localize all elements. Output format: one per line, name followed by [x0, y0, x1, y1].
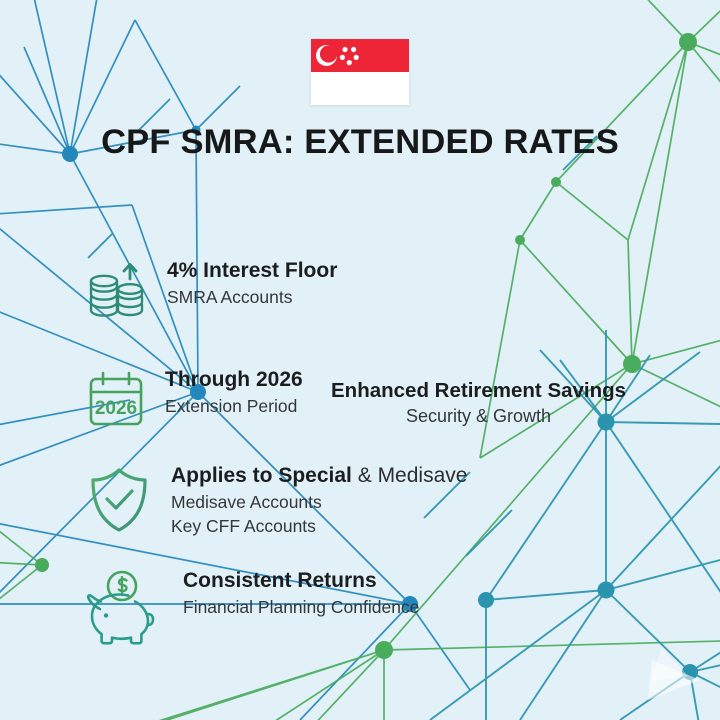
- feature-row-interest-floor: 4% Interest Floor SMRA Accounts: [84, 258, 337, 329]
- feature-headline-light: & Medisave: [352, 464, 468, 487]
- feature-row-consistent-returns: Consistent Returns Financial Planning Co…: [80, 568, 419, 651]
- singapore-flag: [311, 39, 409, 105]
- feature-subtext: SMRA Accounts: [167, 285, 337, 309]
- coin-stacks-up-arrow-icon: [84, 258, 150, 329]
- feature-headline: Through 2026: [165, 367, 303, 394]
- infographic-content: CPF SMRA: EXTENDED RATES: [0, 0, 720, 720]
- feature-subtext: Medisave Accounts: [171, 490, 467, 514]
- overlay-subtext: Security & Growth: [331, 404, 626, 429]
- piggy-bank-dollar-icon: [80, 568, 162, 651]
- overlay-message-block: Enhanced Retirement Savings Security & G…: [331, 378, 626, 429]
- feature-subtext: Extension Period: [165, 394, 303, 418]
- feature-row-applies-to: Applies to Special & Medisave Medisave A…: [84, 463, 467, 542]
- feature-subtext-2: Key CFF Accounts: [171, 514, 467, 538]
- shield-check-icon: [84, 463, 154, 542]
- page-title: CPF SMRA: EXTENDED RATES: [0, 123, 720, 162]
- calendar-2026-icon: 2026: [84, 367, 148, 436]
- feature-headline: Applies to Special & Medisave: [171, 463, 467, 490]
- feature-headline-bold: Applies to Special: [171, 464, 352, 487]
- calendar-year-label: 2026: [95, 398, 137, 419]
- feature-headline: Consistent Returns: [183, 568, 419, 595]
- feature-row-through-2026: 2026 Through 2026 Extension Period: [84, 367, 303, 436]
- feature-subtext: Financial Planning Confidence: [183, 595, 419, 619]
- feature-headline: 4% Interest Floor: [167, 258, 337, 285]
- overlay-headline: Enhanced Retirement Savings: [331, 378, 626, 404]
